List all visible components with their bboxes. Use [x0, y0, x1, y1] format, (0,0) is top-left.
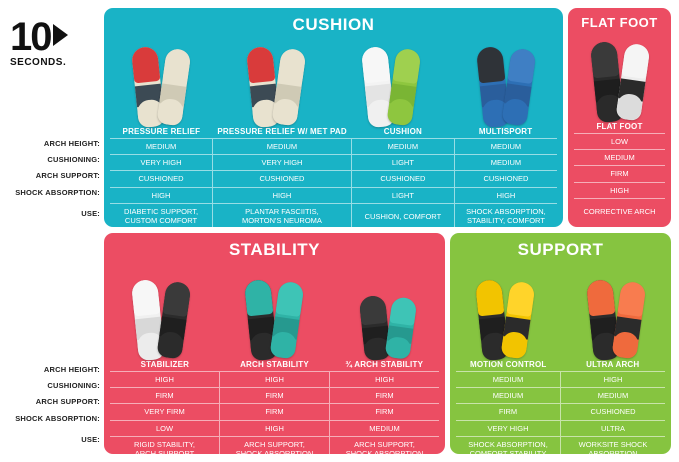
- table-cell: CUSHION, COMFORT: [352, 203, 454, 229]
- product-images-support: [450, 264, 671, 360]
- table-flat-foot: FLAT FOOT LOW MEDIUM FIRM HIGH CORRECTIV…: [568, 122, 671, 224]
- product-image-arch-stability: [248, 280, 300, 360]
- panel-stability: STABILITY: [104, 233, 445, 454]
- column-header-pressure-relief-met-pad: PRESSURE RELIEF W/ MET PAD: [213, 127, 352, 138]
- table-column-three-quarter-arch-stability: HIGH FIRM FIRM MEDIUM ARCH SUPPORT, SHOC…: [330, 371, 439, 462]
- row-labels-top: ARCH HEIGHT: CUSHIONING: ARCH SUPPORT: S…: [8, 136, 100, 227]
- table-cell: MEDIUM: [455, 138, 557, 154]
- table-column-ultra-arch: HIGH MEDIUM CUSHIONED ULTRA WORKSITE SHO…: [561, 371, 665, 462]
- insole-icon: [270, 281, 305, 360]
- table-cell: MEDIUM: [456, 387, 560, 403]
- table-cell: HIGH: [574, 182, 665, 198]
- product-image-stabilizer: [135, 280, 187, 360]
- product-image-flat-foot: [594, 42, 646, 122]
- table-stability: STABILIZER ARCH STABILITY ¾ ARCH STABILI…: [104, 360, 445, 462]
- row-label-arch-height-2: ARCH HEIGHT:: [8, 362, 100, 378]
- row-label-arch-height: ARCH HEIGHT:: [8, 136, 100, 152]
- table-column-multisport: MEDIUM MEDIUM CUSHIONED HIGH SHOCK ABSOR…: [455, 138, 557, 229]
- table-cell: PLANTAR FASCIITIS, MORTON'S NEUROMA: [213, 203, 351, 229]
- insole-icon: [156, 281, 191, 360]
- row-label-use: USE:: [8, 201, 100, 227]
- column-header-stabilizer: STABILIZER: [110, 360, 220, 371]
- product-image-motion-control: [479, 280, 531, 360]
- row-labels-bottom: ARCH HEIGHT: CUSHIONING: ARCH SUPPORT: S…: [8, 362, 100, 453]
- table-column-arch-stability: HIGH FIRM FIRM HIGH ARCH SUPPORT, SHOCK …: [220, 371, 329, 462]
- table-cell: CUSHIONED: [213, 170, 351, 186]
- column-header-ultra-arch: ULTRA ARCH: [561, 360, 666, 371]
- table-cell: HIGH: [110, 187, 212, 203]
- table-cell: VERY HIGH: [213, 154, 351, 170]
- insole-icon: [272, 48, 307, 127]
- product-image-three-quarter-arch-stability: [362, 296, 414, 360]
- table-cell: LIGHT: [352, 154, 454, 170]
- row-label-cushioning: CUSHIONING:: [8, 152, 100, 168]
- table-cell: HIGH: [330, 371, 439, 387]
- column-header-pressure-relief: PRESSURE RELIEF: [110, 127, 213, 138]
- table-column-flat-foot: LOW MEDIUM FIRM HIGH CORRECTIVE ARCH: [574, 133, 665, 224]
- product-image-pressure-relief: [135, 47, 187, 127]
- table-cell: FIRM: [220, 387, 329, 403]
- panel-title-cushion: CUSHION: [104, 8, 563, 35]
- table-cell: MEDIUM: [110, 138, 212, 154]
- table-cell: FIRM: [330, 403, 439, 419]
- table-cell: HIGH: [110, 371, 219, 387]
- row-label-shock-absorption: SHOCK ABSORPTION:: [8, 185, 100, 201]
- column-header-three-quarter-arch-stability: ¾ ARCH STABILITY: [329, 360, 439, 371]
- insole-icon: [615, 43, 650, 122]
- table-cell: FIRM: [330, 387, 439, 403]
- table-cell: MEDIUM: [213, 138, 351, 154]
- product-images-cushion: [104, 39, 563, 127]
- table-column-cushion: MEDIUM LIGHT CUSHIONED LIGHT CUSHION, CO…: [352, 138, 454, 229]
- table-cell: FIRM: [574, 165, 665, 181]
- insole-comparison-chart: 10 SECONDS. ARCH HEIGHT: CUSHIONING: ARC…: [0, 0, 679, 462]
- column-header-arch-stability: ARCH STABILITY: [220, 360, 330, 371]
- table-cell: MEDIUM: [561, 387, 665, 403]
- table-column-pressure-relief-met-pad: MEDIUM VERY HIGH CUSHIONED HIGH PLANTAR …: [213, 138, 351, 229]
- table-column-motion-control: MEDIUM MEDIUM FIRM VERY HIGH SHOCK ABSOR…: [456, 371, 560, 462]
- table-cell: VERY HIGH: [110, 154, 212, 170]
- table-cell: VERY HIGH: [456, 420, 560, 436]
- table-header-row-cushion: PRESSURE RELIEF PRESSURE RELIEF W/ MET P…: [110, 127, 557, 138]
- table-cell: FIRM: [220, 403, 329, 419]
- table-cell: LIGHT: [352, 187, 454, 203]
- product-images-stability: [104, 264, 445, 360]
- product-image-multisport: [480, 47, 532, 127]
- table-cell: LOW: [110, 420, 219, 436]
- table-cell: WORKSITE SHOCK ABSORPTION: [561, 436, 665, 462]
- table-body-stability: HIGH FIRM VERY FIRM LOW RIGID STABILITY,…: [110, 371, 439, 462]
- brand-logo: 10 SECONDS.: [10, 12, 102, 74]
- row-label-arch-support: ARCH SUPPORT:: [8, 168, 100, 184]
- table-cell: FIRM: [456, 403, 560, 419]
- table-cell: HIGH: [213, 187, 351, 203]
- product-image-cushion: [365, 47, 417, 127]
- table-cell: FIRM: [110, 387, 219, 403]
- table-cell: MEDIUM: [574, 149, 665, 165]
- logo-seconds-text: SECONDS.: [10, 57, 66, 68]
- table-cell: CUSHIONED: [561, 403, 665, 419]
- product-image-ultra-arch: [590, 280, 642, 360]
- table-body-cushion: MEDIUM VERY HIGH CUSHIONED HIGH DIABETIC…: [110, 138, 557, 229]
- table-cell: ARCH SUPPORT, SHOCK ABSORPTION: [220, 436, 329, 462]
- column-header-flat-foot: FLAT FOOT: [574, 122, 665, 133]
- table-cell: DIABETIC SUPPORT, CUSTOM COMFORT: [110, 203, 212, 229]
- table-cell: RIGID STABILITY, ARCH SUPPORT: [110, 436, 219, 462]
- panel-title-stability: STABILITY: [104, 233, 445, 260]
- column-header-motion-control: MOTION CONTROL: [456, 360, 561, 371]
- table-cell: HIGH: [220, 420, 329, 436]
- table-cell: MEDIUM: [330, 420, 439, 436]
- table-header-row-support: MOTION CONTROL ULTRA ARCH: [456, 360, 665, 371]
- logo-ten-text: 10: [10, 19, 51, 55]
- product-image-pressure-relief-met-pad: [250, 47, 302, 127]
- table-cell: ULTRA: [561, 420, 665, 436]
- arrow-icon: [53, 24, 68, 46]
- insole-icon: [501, 281, 536, 360]
- insole-icon: [611, 281, 646, 360]
- table-cell: VERY FIRM: [110, 403, 219, 419]
- table-cell: HIGH: [220, 371, 329, 387]
- table-cell: LOW: [574, 133, 665, 149]
- panel-support: SUPPORT: [450, 233, 671, 454]
- panel-cushion: CUSHION: [104, 8, 563, 227]
- table-cell: HIGH: [455, 187, 557, 203]
- logo-row: 10: [10, 19, 68, 55]
- table-cell: ARCH SUPPORT, SHOCK ABSORPTION: [330, 436, 439, 462]
- table-cell: CUSHIONED: [455, 170, 557, 186]
- row-label-arch-support-2: ARCH SUPPORT:: [8, 394, 100, 410]
- table-column-stabilizer: HIGH FIRM VERY FIRM LOW RIGID STABILITY,…: [110, 371, 219, 462]
- product-images-flat-foot: [568, 34, 671, 122]
- table-body-support: MEDIUM MEDIUM FIRM VERY HIGH SHOCK ABSOR…: [456, 371, 665, 462]
- panel-title-flat-foot: FLAT FOOT: [568, 8, 671, 30]
- insole-icon: [501, 48, 536, 127]
- table-cell: CUSHIONED: [110, 170, 212, 186]
- table-cell: HIGH: [561, 371, 665, 387]
- table-column-pressure-relief: MEDIUM VERY HIGH CUSHIONED HIGH DIABETIC…: [110, 138, 212, 229]
- row-label-use-2: USE:: [8, 427, 100, 453]
- row-label-shock-absorption-2: SHOCK ABSORPTION:: [8, 411, 100, 427]
- column-header-multisport: MULTISPORT: [454, 127, 557, 138]
- insole-icon: [385, 296, 418, 360]
- insole-icon: [386, 48, 421, 127]
- panel-title-support: SUPPORT: [450, 233, 671, 260]
- table-header-row-stability: STABILIZER ARCH STABILITY ¾ ARCH STABILI…: [110, 360, 439, 371]
- panel-flat-foot: FLAT FOOT FLAT FOOT LOW MEDIUM F: [568, 8, 671, 227]
- insole-icon: [157, 48, 192, 127]
- table-cell: MEDIUM: [352, 138, 454, 154]
- table-cell: CORRECTIVE ARCH: [574, 198, 665, 224]
- table-cell: MEDIUM: [456, 371, 560, 387]
- table-cell: MEDIUM: [455, 154, 557, 170]
- column-header-cushion: CUSHION: [351, 127, 454, 138]
- table-cushion: PRESSURE RELIEF PRESSURE RELIEF W/ MET P…: [104, 127, 563, 229]
- table-support: MOTION CONTROL ULTRA ARCH MEDIUM MEDIUM …: [450, 360, 671, 462]
- table-cell: SHOCK ABSORPTION, COMFORT STABILITY: [456, 436, 560, 462]
- row-label-cushioning-2: CUSHIONING:: [8, 378, 100, 394]
- table-cell: CUSHIONED: [352, 170, 454, 186]
- table-cell: SHOCK ABSORPTION, STABILITY, COMFORT: [455, 203, 557, 229]
